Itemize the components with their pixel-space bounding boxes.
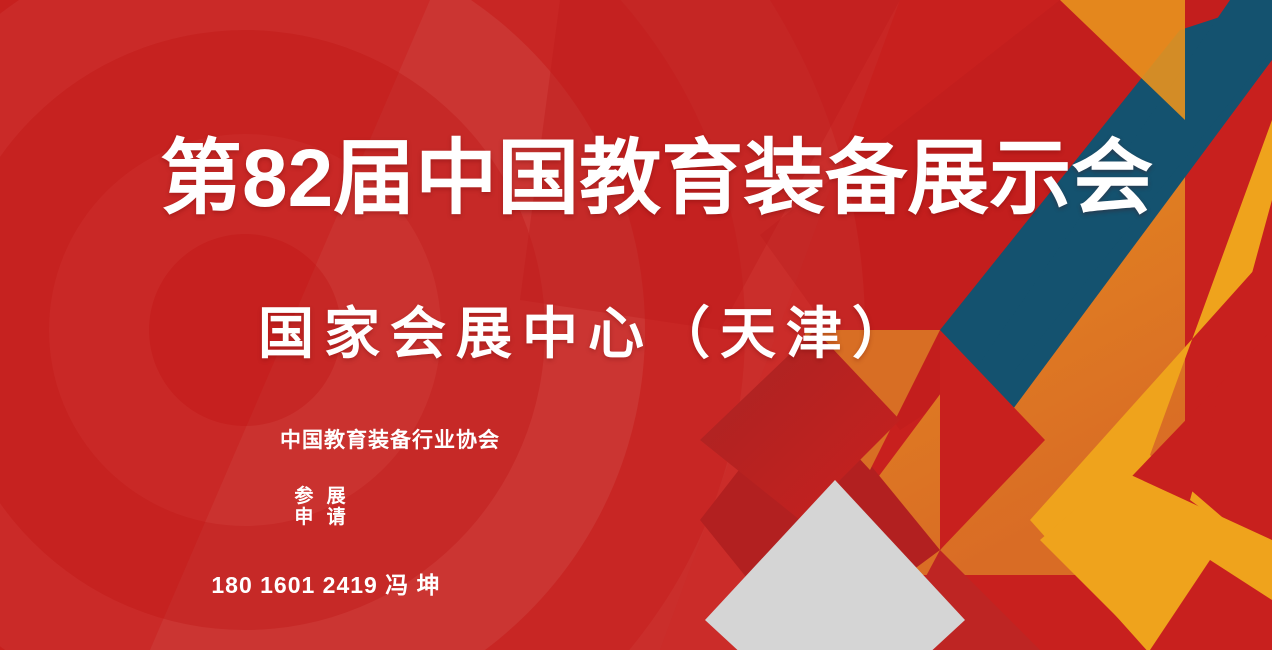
contact-phone: 180 1601 2419 冯 坤 — [0, 566, 1272, 600]
exhibition-banner: 第82届中国教育装备展示会 国家会展中心（天津） 中国教育装备行业协会 参 展 … — [0, 0, 1272, 650]
apply-line-2: 申 请 — [0, 507, 644, 528]
apply-line-1: 参 展 — [0, 486, 644, 507]
apply-block: 参 展 申 请 — [0, 486, 1272, 529]
page-title: 第82届中国教育装备展示会 — [0, 138, 1272, 220]
organizer-label: 中国教育装备行业协会 — [0, 424, 1272, 454]
banner-content: 第82届中国教育装备展示会 国家会展中心（天津） 中国教育装备行业协会 参 展 … — [0, 0, 1272, 650]
venue-subtitle: 国家会展中心（天津） — [0, 305, 1272, 364]
